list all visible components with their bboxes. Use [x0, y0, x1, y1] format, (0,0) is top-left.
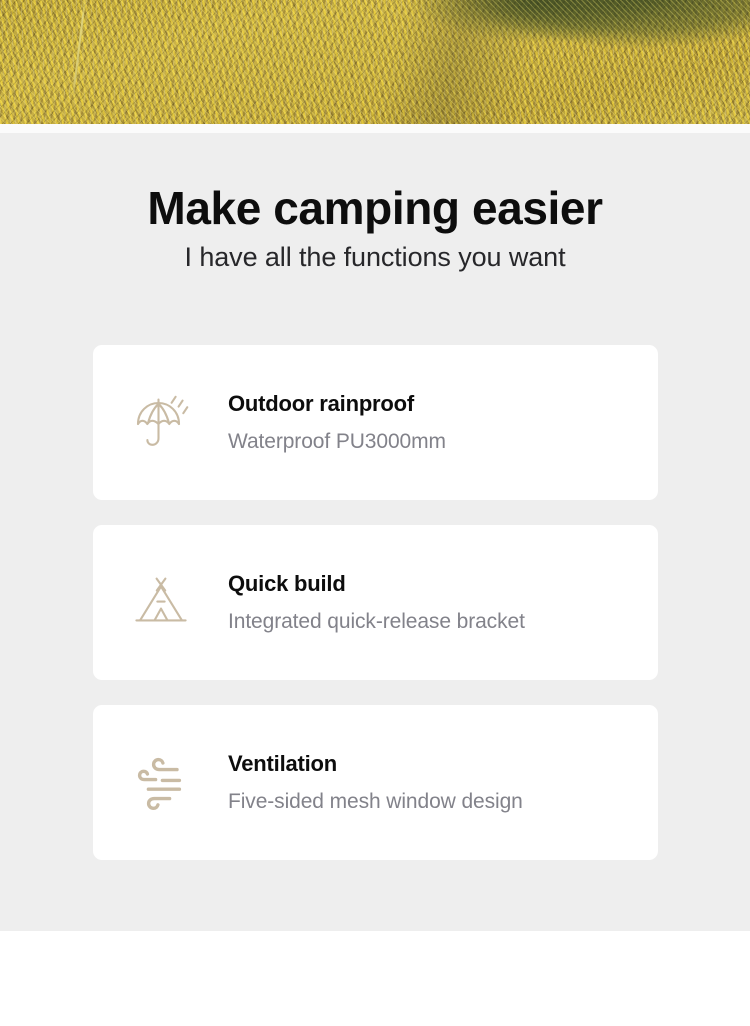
wind-ventilation-icon	[131, 753, 191, 813]
feature-card-ventilation[interactable]: Ventilation Five-sided mesh window desig…	[93, 705, 658, 860]
feature-text-wrapper: Quick build Integrated quick-release bra…	[228, 570, 525, 635]
feature-description: Waterproof PU3000mm	[228, 428, 446, 455]
feature-card-outdoor-rainproof[interactable]: Outdoor rainproof Waterproof PU3000mm	[93, 345, 658, 500]
feature-card-list: Outdoor rainproof Waterproof PU3000mm	[93, 345, 658, 860]
umbrella-rain-icon	[131, 393, 191, 453]
page-title: Make camping easier	[0, 182, 750, 234]
feature-description: Five-sided mesh window design	[228, 788, 523, 815]
page-subtitle: I have all the functions you want	[0, 240, 750, 274]
hero-image	[0, 0, 750, 124]
feature-text-wrapper: Ventilation Five-sided mesh window desig…	[228, 750, 523, 815]
product-feature-page: Make camping easier I have all the funct…	[0, 0, 750, 1026]
grass-field-photo	[0, 0, 750, 124]
section-heading: Make camping easier I have all the funct…	[0, 133, 750, 274]
feature-title: Quick build	[228, 570, 525, 598]
feature-icon-wrapper	[93, 393, 228, 453]
footer-whitespace	[0, 931, 750, 1026]
features-section: Make camping easier I have all the funct…	[0, 133, 750, 931]
feature-description: Integrated quick-release bracket	[228, 608, 525, 635]
feature-icon-wrapper	[93, 753, 228, 813]
feature-title: Ventilation	[228, 750, 523, 778]
hero-divider-gap	[0, 124, 750, 133]
feature-icon-wrapper	[93, 573, 228, 633]
tent-teepee-icon	[131, 573, 191, 633]
feature-title: Outdoor rainproof	[228, 390, 446, 418]
feature-text-wrapper: Outdoor rainproof Waterproof PU3000mm	[228, 390, 446, 455]
feature-card-quick-build[interactable]: Quick build Integrated quick-release bra…	[93, 525, 658, 680]
